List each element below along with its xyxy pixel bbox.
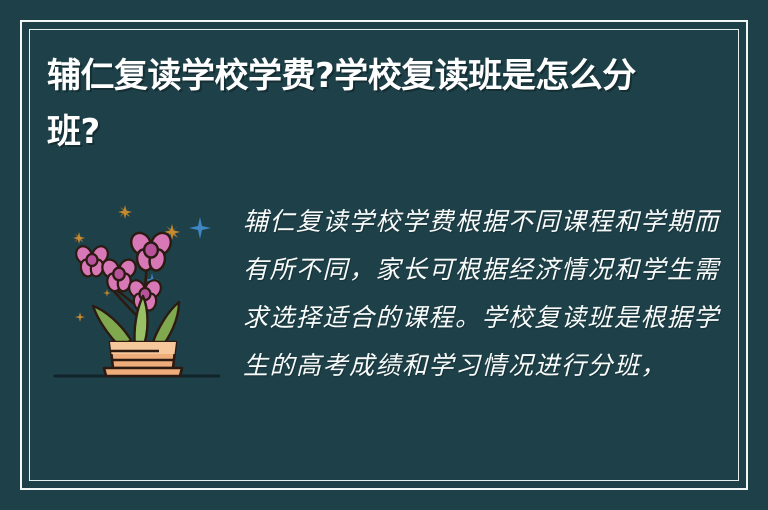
- potted-orchid-illustration: [47, 190, 237, 400]
- article-card: 辅仁复读学校学费?学校复读班是怎么分班?: [0, 0, 768, 510]
- illustration-container: [47, 190, 237, 400]
- flower-pot: [104, 342, 182, 376]
- content-row: 辅仁复读学校学费根据不同课程和学期而有所不同，家长可根据经济情况和学生需求选择适…: [47, 190, 721, 470]
- orchid-flowers: [73, 229, 174, 311]
- title-text: 辅仁复读学校学费?学校复读班是怎么分班?: [47, 48, 667, 160]
- article-body: 辅仁复读学校学费根据不同课程和学期而有所不同，家长可根据经济情况和学生需求选择适…: [237, 190, 721, 468]
- page-title: 辅仁复读学校学费?学校复读班是怎么分班?: [47, 48, 667, 160]
- body-text: 辅仁复读学校学费根据不同课程和学期而有所不同，家长可根据经济情况和学生需求选择适…: [243, 198, 721, 390]
